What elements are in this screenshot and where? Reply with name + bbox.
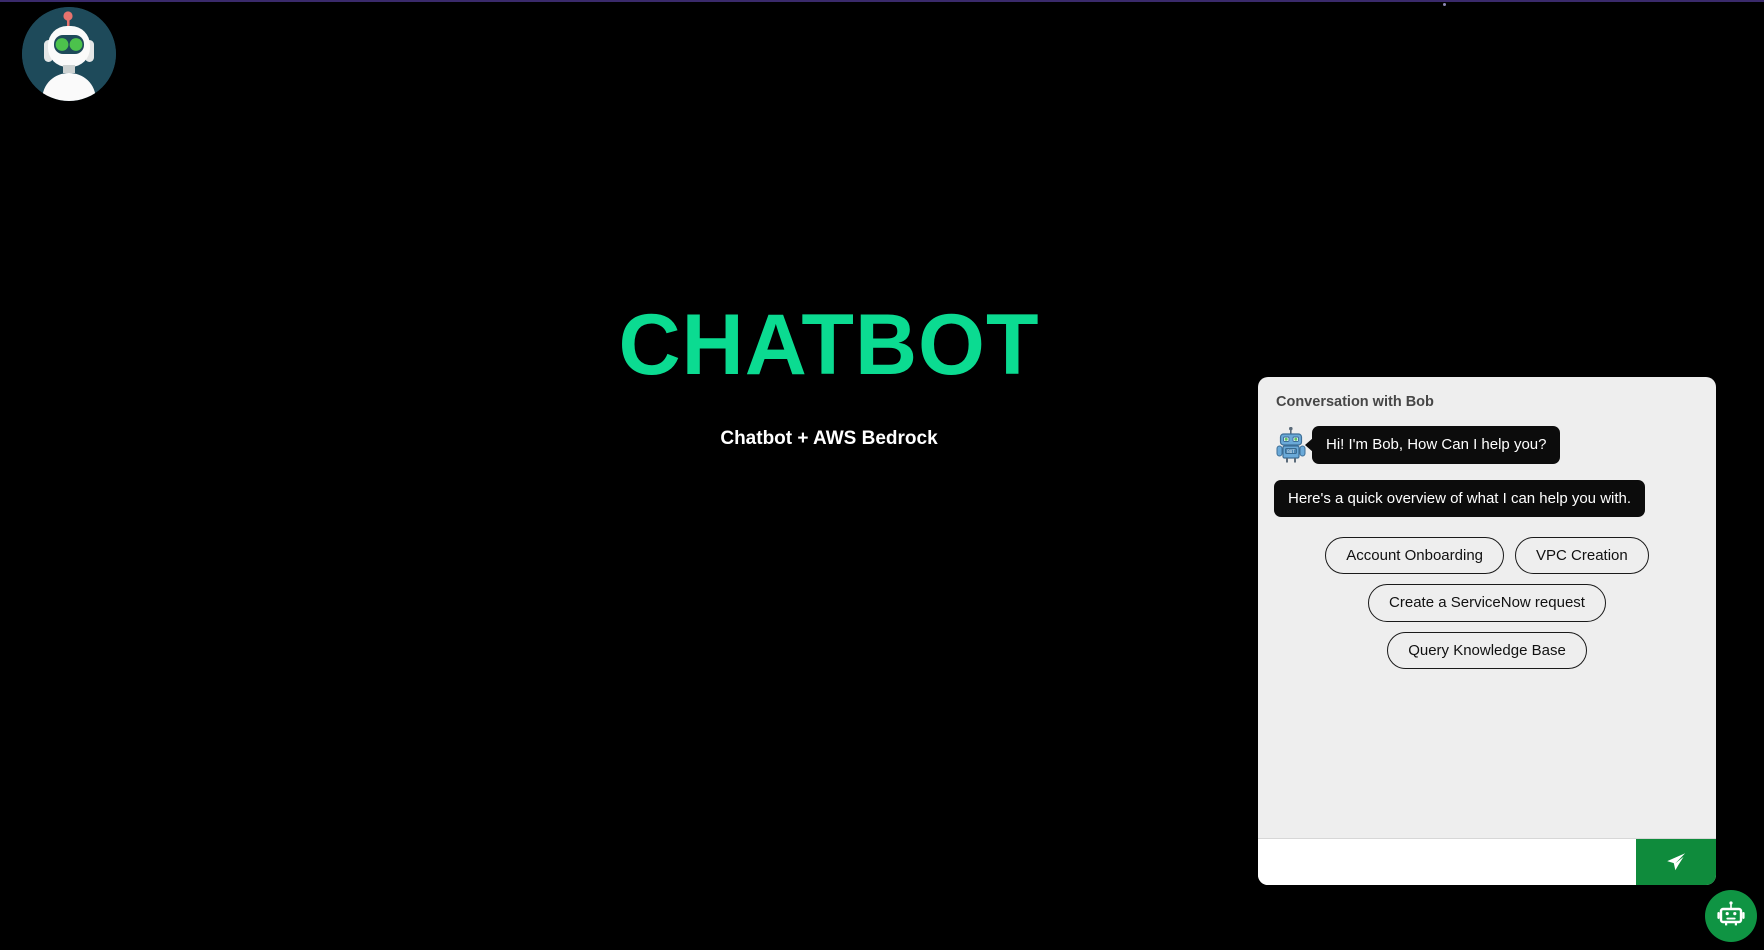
message-row-overview: Here's a quick overview of what I can he…: [1274, 480, 1700, 518]
suggestion-chip-servicenow-request[interactable]: Create a ServiceNow request: [1368, 584, 1606, 621]
suggestion-chip-vpc-creation[interactable]: VPC Creation: [1515, 537, 1649, 574]
chat-input-bar: [1258, 838, 1716, 885]
app-root: CHATBOT Chatbot + AWS Bedrock Conversati…: [0, 0, 1764, 950]
suggestion-chip-row: Account Onboarding VPC Creation: [1325, 537, 1648, 574]
message-bubble: Hi! I'm Bob, How Can I help you?: [1312, 426, 1560, 464]
send-button[interactable]: [1636, 839, 1716, 885]
robot-emoji-icon: BOT: [1274, 427, 1308, 463]
chat-header-title: Conversation with Bob: [1258, 377, 1716, 414]
message-row-greeting: BOT Hi! I'm Bob, How Can I help you?: [1274, 426, 1700, 464]
top-rule-dot: [1443, 3, 1446, 6]
chat-widget: Conversation with Bob BOT: [1258, 377, 1716, 885]
suggestion-chip-group: Account Onboarding VPC Creation Create a…: [1274, 537, 1700, 669]
chat-message-input[interactable]: [1258, 839, 1636, 885]
suggestion-chip-query-knowledge-base[interactable]: Query Knowledge Base: [1387, 632, 1587, 669]
suggestion-chip-row: Create a ServiceNow request: [1368, 584, 1606, 621]
suggestion-chip-account-onboarding[interactable]: Account Onboarding: [1325, 537, 1504, 574]
chat-message-list: BOT Hi! I'm Bob, How Can I help you? Her…: [1258, 414, 1716, 838]
message-bubble-wrap: Hi! I'm Bob, How Can I help you?: [1312, 426, 1560, 464]
robot-logo-icon: [22, 7, 116, 101]
svg-text:BOT: BOT: [1287, 449, 1295, 454]
message-bubble: Here's a quick overview of what I can he…: [1274, 480, 1645, 518]
top-accent-rule: [0, 0, 1764, 2]
robot-icon: [1715, 900, 1747, 932]
chat-launcher-button[interactable]: [1705, 890, 1757, 942]
bubble-tail: [1305, 438, 1313, 452]
paper-plane-icon: [1665, 851, 1687, 873]
suggestion-chip-row: Query Knowledge Base: [1387, 632, 1587, 669]
robot-avatar-logo: [22, 7, 116, 101]
